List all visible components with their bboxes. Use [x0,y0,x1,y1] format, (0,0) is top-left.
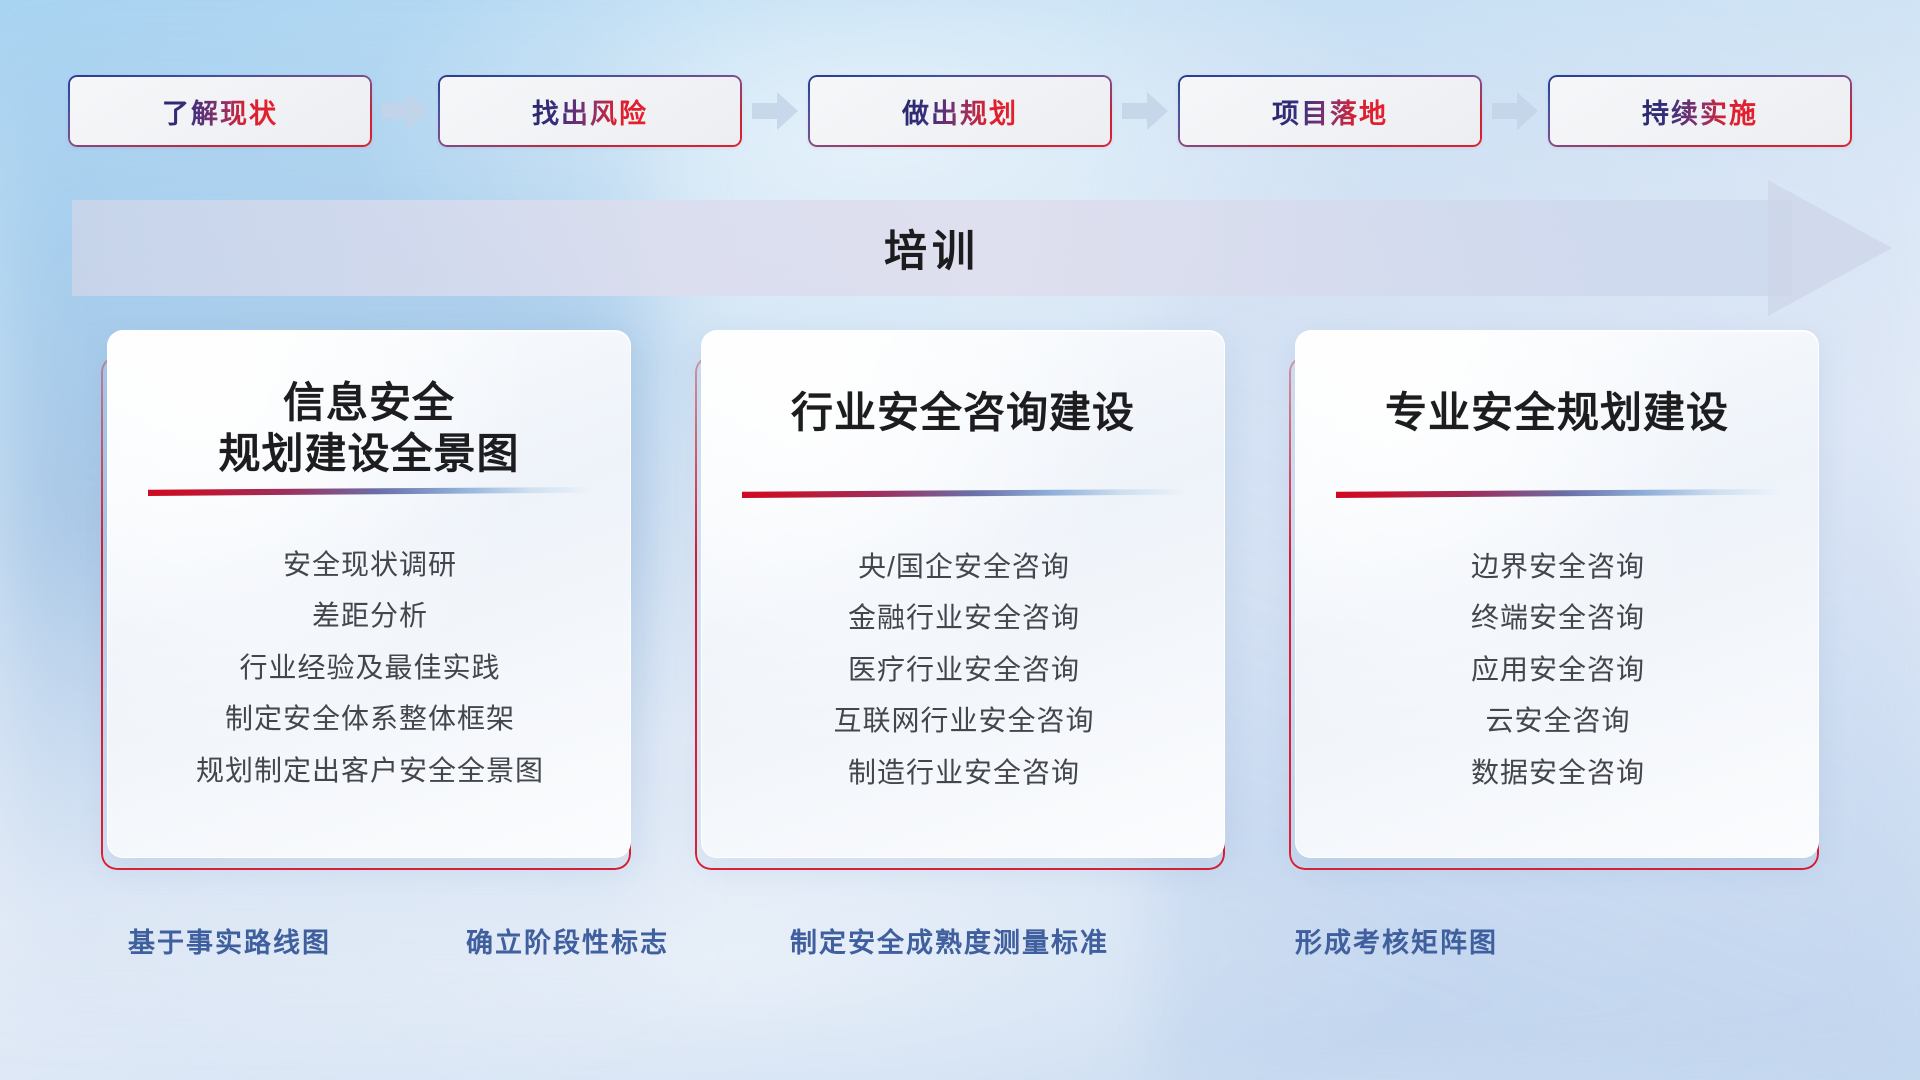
card-divider [148,487,592,496]
list-item[interactable]: 互联网行业安全咨询 [833,699,1094,742]
list-item[interactable]: 应用安全咨询 [1471,648,1645,691]
list-item[interactable]: 安全现状调研 [283,543,457,586]
step-button-3[interactable]: 做出规划 [808,75,1112,147]
list-item[interactable]: 制造行业安全咨询 [848,751,1080,794]
list-item[interactable]: 金融行业安全咨询 [848,596,1080,639]
step-button-1[interactable]: 了解现状 [68,75,372,147]
list-item[interactable]: 医疗行业安全咨询 [848,648,1080,691]
service-card-1[interactable]: 信息安全 规划建设全景图安全现状调研差距分析行业经验及最佳实践制定安全体系整体框… [101,330,631,870]
list-item[interactable]: 差距分析 [312,594,428,637]
card-panel: 信息安全 规划建设全景图安全现状调研差距分析行业经验及最佳实践制定安全体系整体框… [107,330,631,858]
list-item[interactable]: 制定安全体系整体框架 [225,697,515,740]
service-cards: 信息安全 规划建设全景图安全现状调研差距分析行业经验及最佳实践制定安全体系整体框… [0,330,1920,870]
list-item[interactable]: 终端安全咨询 [1471,596,1645,639]
outcome-caption-2: 确立阶段性标志 [466,905,669,975]
card-panel: 专业安全规划建设边界安全咨询终端安全咨询应用安全咨询云安全咨询数据安全咨询 [1295,330,1819,858]
arrow-right-icon [1112,74,1178,148]
step-button-label: 找出风险 [532,92,648,131]
card-panel: 行业安全咨询建设央/国企安全咨询金融行业安全咨询医疗行业安全咨询互联网行业安全咨… [701,330,1225,858]
card-divider [742,489,1186,498]
card-divider [1336,489,1780,498]
card-item-list: 安全现状调研差距分析行业经验及最佳实践制定安全体系整体框架规划制定出客户安全全景… [108,543,631,792]
card-title: 信息安全 规划建设全景图 [134,377,604,479]
step-button-label: 项目落地 [1272,92,1388,131]
list-item[interactable]: 行业经验及最佳实践 [239,646,500,689]
step-button-label: 做出规划 [902,92,1018,131]
service-card-2[interactable]: 行业安全咨询建设央/国企安全咨询金融行业安全咨询医疗行业安全咨询互联网行业安全咨… [695,330,1225,870]
banner-title: 培训 [72,200,1792,296]
arrow-right-icon [1482,74,1548,148]
outcome-caption-4: 形成考核矩阵图 [1295,905,1498,975]
step-button-label: 了解现状 [162,92,278,131]
arrow-right-icon [372,74,438,148]
card-item-list: 央/国企安全咨询金融行业安全咨询医疗行业安全咨询互联网行业安全咨询制造行业安全咨… [702,545,1225,794]
list-item[interactable]: 数据安全咨询 [1471,751,1645,794]
service-card-3[interactable]: 专业安全规划建设边界安全咨询终端安全咨询应用安全咨询云安全咨询数据安全咨询 [1289,330,1819,870]
step-button-2[interactable]: 找出风险 [438,75,742,147]
arrow-right-icon [742,74,808,148]
card-title: 行业安全咨询建设 [728,387,1198,438]
list-item[interactable]: 规划制定出客户安全全景图 [196,749,544,792]
list-item[interactable]: 云安全咨询 [1485,699,1630,742]
card-title: 专业安全规划建设 [1322,387,1792,438]
step-button-label: 持续实施 [1642,92,1758,131]
list-item[interactable]: 边界安全咨询 [1471,545,1645,588]
outcome-caption-1: 基于事实路线图 [128,905,331,975]
step-button-5[interactable]: 持续实施 [1548,75,1852,147]
outcome-captions: 基于事实路线图确立阶段性标志制定安全成熟度测量标准形成考核矩阵图 [0,905,1920,975]
step-button-4[interactable]: 项目落地 [1178,75,1482,147]
card-item-list: 边界安全咨询终端安全咨询应用安全咨询云安全咨询数据安全咨询 [1296,545,1819,794]
process-steps: 了解现状找出风险做出规划项目落地持续实施 [0,72,1920,150]
training-banner: 培训 [72,200,1868,296]
outcome-caption-3: 制定安全成熟度测量标准 [790,905,1109,975]
list-item[interactable]: 央/国企安全咨询 [858,545,1070,588]
